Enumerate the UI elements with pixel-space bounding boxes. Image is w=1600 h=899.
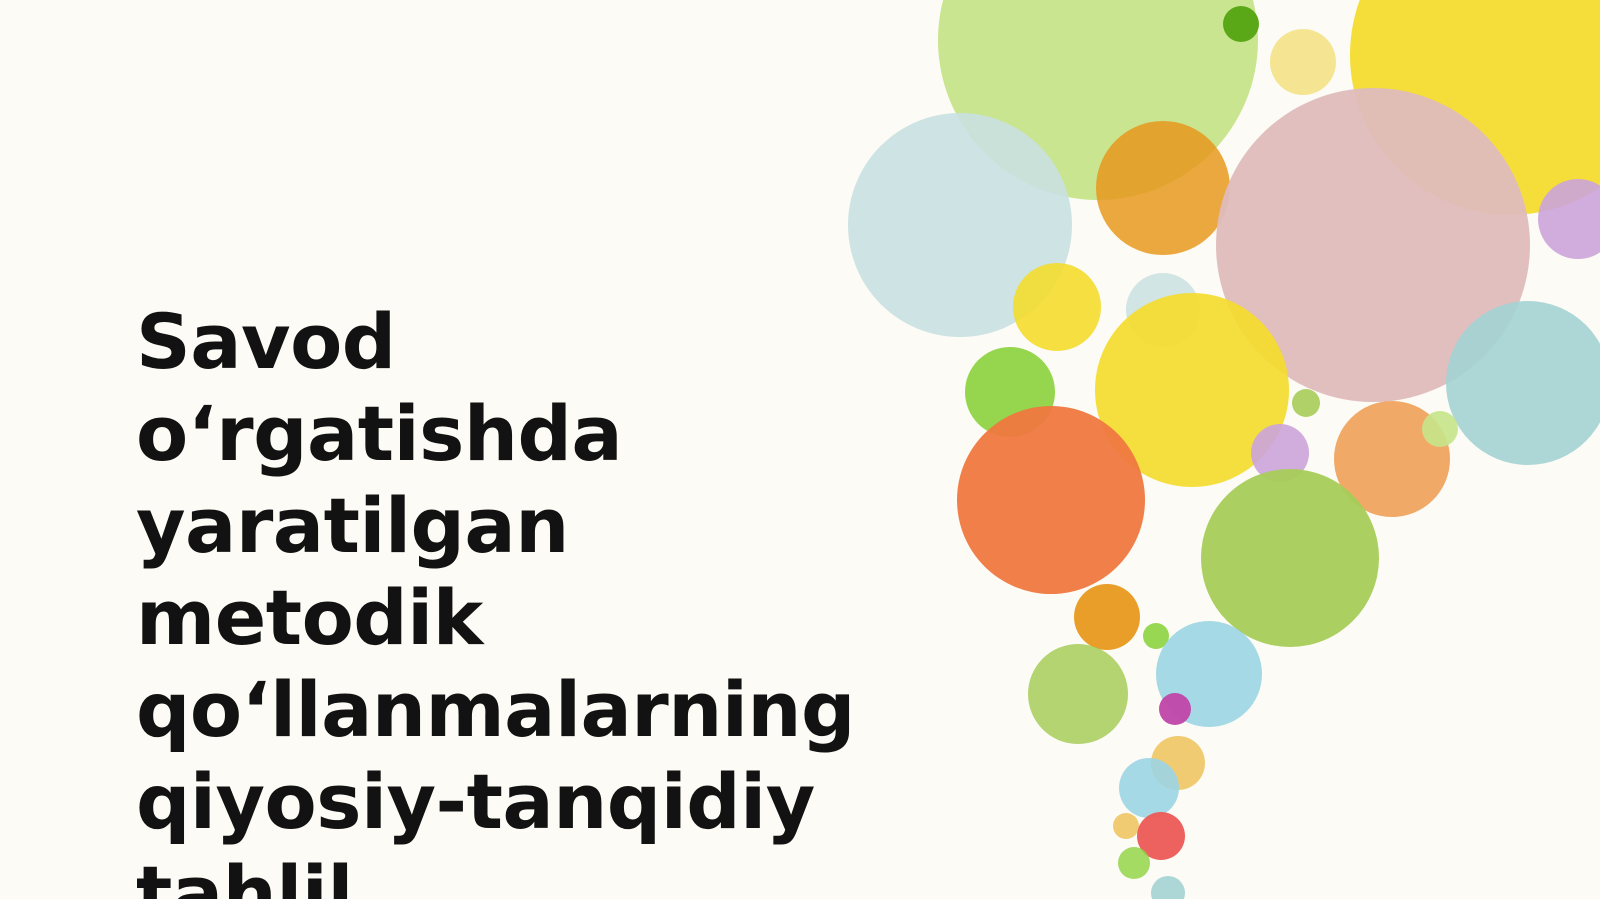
medium-green-lower-left-circle [1028,644,1128,744]
bright-green-dot-lower-circle [1143,623,1169,649]
yellow-top-right-circle [1350,0,1600,215]
light-orange-mid-right-circle [1334,401,1450,517]
dark-green-dot-top-circle [1223,6,1259,42]
teal-dot-bottom-circle [1151,876,1185,899]
sand-dot-circle [1113,813,1139,839]
magenta-dot-circle [1159,693,1191,725]
green-dot-bottom-circle [1118,847,1150,879]
lilac-mid-circle [1251,424,1309,482]
lilac-right-edge-circle [1538,179,1600,259]
pale-blue-small-upper-circle [1126,273,1200,347]
bright-green-mid-circle [965,347,1055,437]
light-green-top-circle [938,0,1258,200]
teal-right-circle [1446,301,1600,465]
page-title: Savod o‘rgatishda yaratilgan metodik qo‘… [136,296,906,899]
medium-green-large-lower-circle [1201,469,1379,647]
sky-blue-lower-circle [1156,621,1262,727]
pale-yellow-small-top-circle [1270,29,1336,95]
light-orange-upper-circle [1096,121,1230,255]
light-green-dot-mid-circle [1422,411,1458,447]
presentation-slide: Savod o‘rgatishda yaratilgan metodik qo‘… [0,0,1600,899]
title-block: Savod o‘rgatishda yaratilgan metodik qo‘… [136,296,906,899]
red-dot-circle [1137,812,1185,860]
sky-blue-small-circle [1119,758,1179,818]
orange-small-lower-circle [1074,584,1140,650]
pink-large-circle [1216,88,1530,402]
yellow-large-mid-circle [1095,293,1289,487]
light-green-dot-right-circle [1292,389,1320,417]
sand-small-circle [1151,736,1205,790]
yellow-small-upper-circle [1013,263,1101,351]
orange-red-large-circle [957,406,1145,594]
